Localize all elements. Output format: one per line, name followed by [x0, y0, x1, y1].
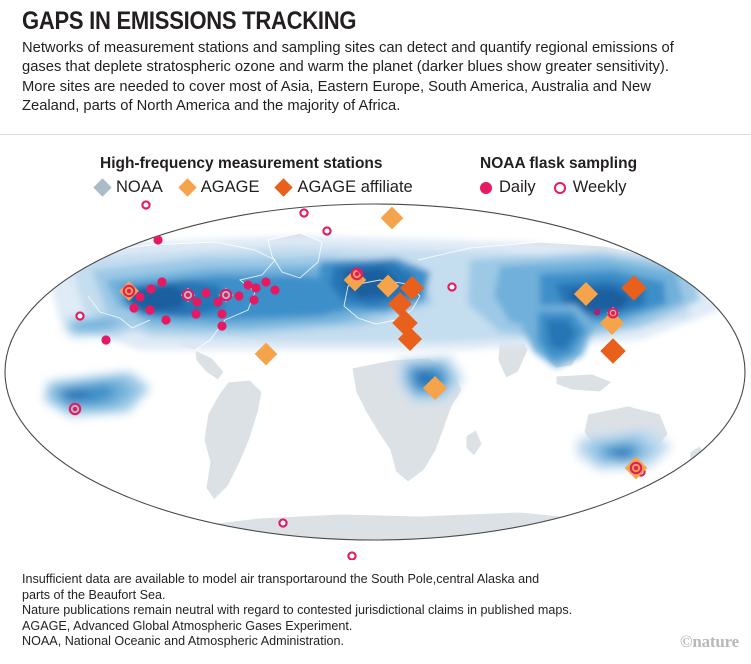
colocated-center [611, 311, 615, 315]
footnote-line: parts of the Beaufort Sea. [22, 588, 722, 604]
colocated-center [355, 272, 359, 276]
legend-label-daily: Daily [499, 178, 536, 197]
colocated-center [127, 289, 131, 293]
legend-group-high-frequency: NOAA AGAGE AGAGE affiliate [96, 178, 413, 197]
weekly-flask-site[interactable] [348, 552, 355, 559]
daily-flask-site[interactable] [234, 291, 243, 300]
daily-flask-site[interactable] [101, 335, 110, 344]
daily-flask-site[interactable] [146, 284, 155, 293]
legend-heading-high-frequency: High-frequency measurement stations [100, 155, 383, 173]
legend-item-agage-affiliate[interactable]: AGAGE affiliate [277, 178, 412, 197]
colocated-center [224, 293, 228, 297]
footnote-line: Insufficient data are available to model… [22, 572, 722, 588]
daily-flask-site[interactable] [129, 303, 138, 312]
daily-flask-site[interactable] [270, 285, 279, 294]
weekly-flask-site[interactable] [142, 201, 149, 208]
nature-logo: ©nature [680, 632, 739, 652]
noaa-diamond-icon [93, 178, 111, 196]
legend-label-agage: AGAGE [201, 178, 260, 197]
legend-group-flask-sampling: Daily Weekly [480, 178, 626, 197]
weekly-flask-site[interactable] [448, 283, 455, 290]
legend-label-noaa: NOAA [116, 178, 163, 197]
daily-flask-site[interactable] [201, 288, 210, 297]
daily-flask-site[interactable] [192, 297, 201, 306]
page-subtitle: Networks of measurement stations and sam… [22, 38, 701, 116]
infographic-page: GAPS IN EMISSIONS TRACKING Networks of m… [0, 0, 751, 664]
footnote-line: NOAA, National Oceanic and Atmospheric A… [22, 634, 722, 650]
legend-item-noaa[interactable]: NOAA [96, 178, 163, 197]
weekly-flask-site[interactable] [323, 227, 330, 234]
daily-circle-icon [480, 182, 492, 194]
daily-flask-site[interactable] [153, 235, 162, 244]
footnote-line: AGAGE, Advanced Global Atmospheric Gases… [22, 619, 722, 635]
agage-affiliate-diamond-icon [275, 178, 293, 196]
daily-flask-site[interactable] [145, 305, 154, 314]
daily-flask-site[interactable] [251, 283, 260, 292]
daily-flask-site[interactable] [161, 315, 170, 324]
daily-flask-site[interactable] [191, 309, 200, 318]
daily-flask-site[interactable] [243, 280, 252, 289]
header-divider [0, 134, 751, 135]
daily-flask-site[interactable] [157, 277, 166, 286]
colocated-center [73, 407, 77, 411]
legend-label-weekly: Weekly [573, 178, 627, 197]
agage-diamond-icon [178, 178, 196, 196]
colocated-center [634, 466, 638, 470]
weekly-flask-site[interactable] [300, 209, 307, 216]
colocated-center [186, 293, 190, 297]
daily-flask-site[interactable] [217, 309, 226, 318]
map-canvas [0, 200, 751, 560]
daily-flask-site[interactable] [261, 277, 270, 286]
weekly-flask-site[interactable] [279, 519, 286, 526]
world-map[interactable] [0, 200, 751, 560]
legend-heading-flask-sampling: NOAA flask sampling [480, 155, 637, 173]
weekly-flask-site[interactable] [76, 312, 83, 319]
legend-item-agage[interactable]: AGAGE [181, 178, 260, 197]
legend: High-frequency measurement stations NOAA… [0, 155, 751, 203]
footnotes: Insufficient data are available to model… [22, 572, 722, 650]
daily-flask-site[interactable] [249, 295, 258, 304]
legend-item-daily[interactable]: Daily [480, 178, 536, 197]
legend-item-weekly[interactable]: Weekly [554, 178, 627, 197]
additional-site-marker[interactable] [594, 309, 601, 316]
legend-label-agage-affiliate: AGAGE affiliate [297, 178, 412, 197]
daily-flask-site[interactable] [135, 292, 144, 301]
weekly-circle-icon [554, 182, 566, 194]
footnote-line: Nature publications remain neutral with … [22, 603, 722, 619]
daily-flask-site[interactable] [217, 321, 226, 330]
page-title: GAPS IN EMISSIONS TRACKING [22, 7, 356, 36]
